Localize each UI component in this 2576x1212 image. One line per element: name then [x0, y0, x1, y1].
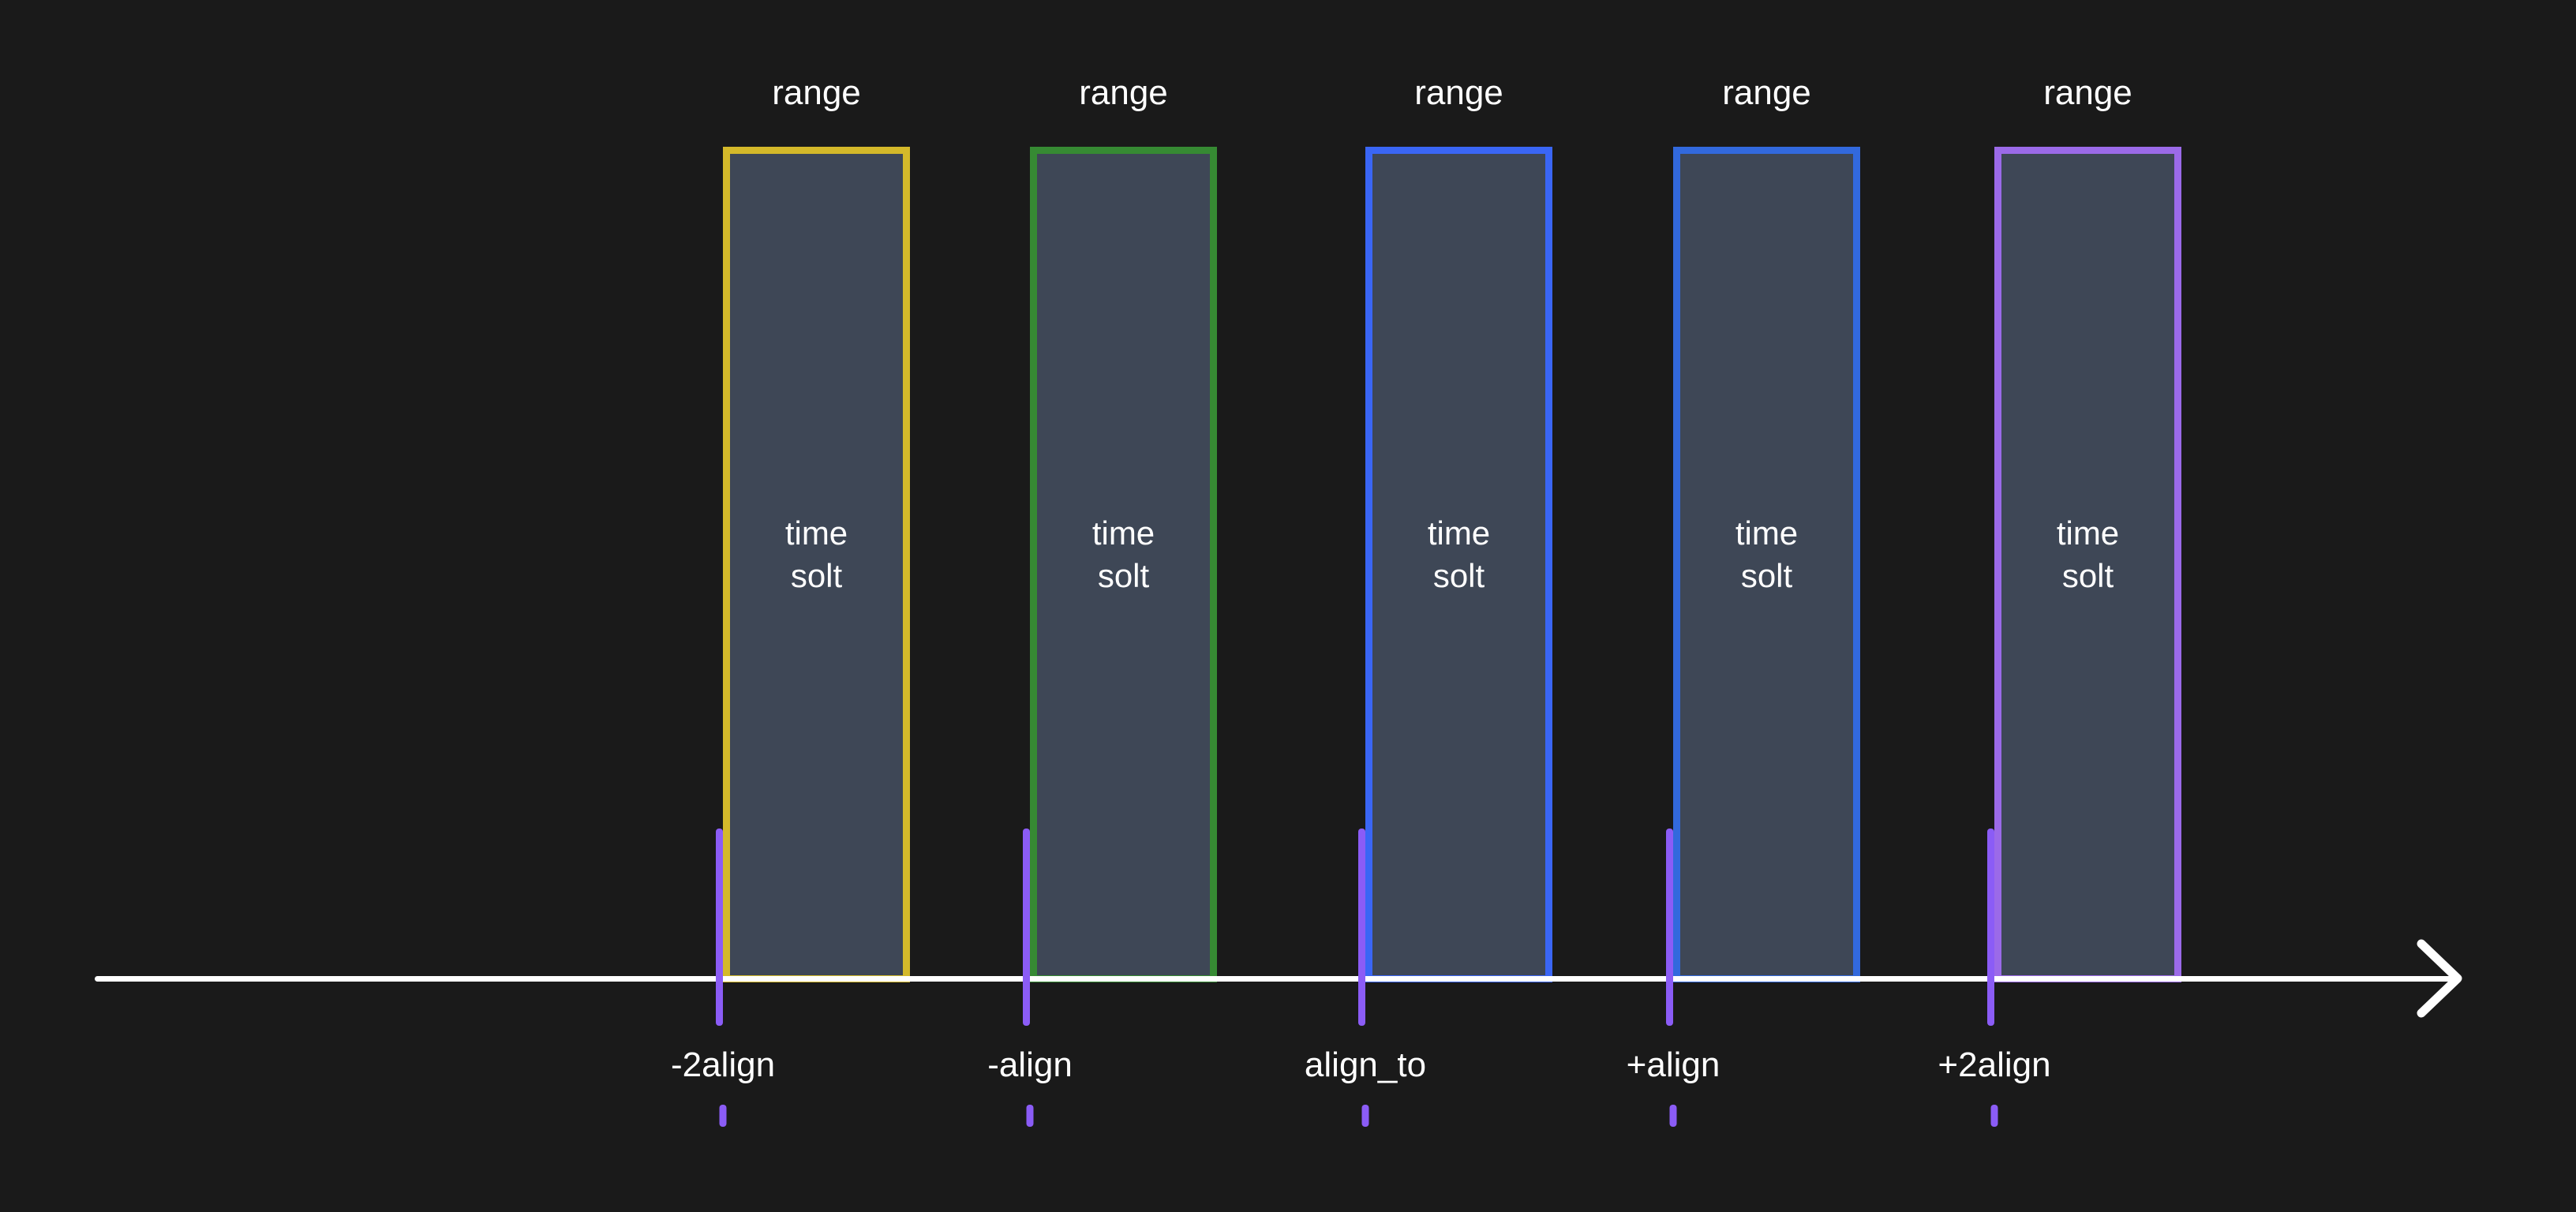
time-slot-label: time solt [1372, 512, 1545, 597]
range-box: time solt [1994, 147, 2181, 982]
range-label: range [1722, 76, 1811, 110]
tick-dash [1670, 1105, 1677, 1127]
tick-label: -align [987, 1048, 1073, 1083]
range-box: time solt [1673, 147, 1860, 982]
tick-dash [720, 1105, 727, 1127]
tick-minus-2align [716, 829, 723, 1026]
range-box: time solt [1365, 147, 1552, 982]
tick-minus-align [1023, 829, 1030, 1026]
tick-label: -2align [671, 1048, 775, 1083]
range-label: range [772, 76, 861, 110]
tick-plus-2align [1987, 829, 1994, 1026]
time-slot-label: time solt [1680, 512, 1853, 597]
time-slot-label: time solt [1037, 512, 1210, 597]
tick-plus-align [1666, 829, 1673, 1026]
tick-label: +align [1627, 1048, 1720, 1083]
range-box: time solt [723, 147, 910, 982]
range-label: range [1079, 76, 1168, 110]
tick-dash [1362, 1105, 1369, 1127]
tick-align-to [1358, 829, 1365, 1026]
tick-dash [1027, 1105, 1034, 1127]
tick-label: +2align [1938, 1048, 2050, 1083]
range-label: range [1414, 76, 1503, 110]
tick-label: align_to [1305, 1048, 1426, 1083]
diagram-canvas: time soltrangetime soltrangetime soltran… [0, 0, 2576, 1212]
time-slot-label: time solt [730, 512, 903, 597]
range-label: range [2043, 76, 2132, 110]
range-box: time solt [1030, 147, 1217, 982]
timeline-axis [95, 976, 2454, 982]
time-slot-label: time solt [2001, 512, 2174, 597]
tick-dash [1991, 1105, 1998, 1127]
